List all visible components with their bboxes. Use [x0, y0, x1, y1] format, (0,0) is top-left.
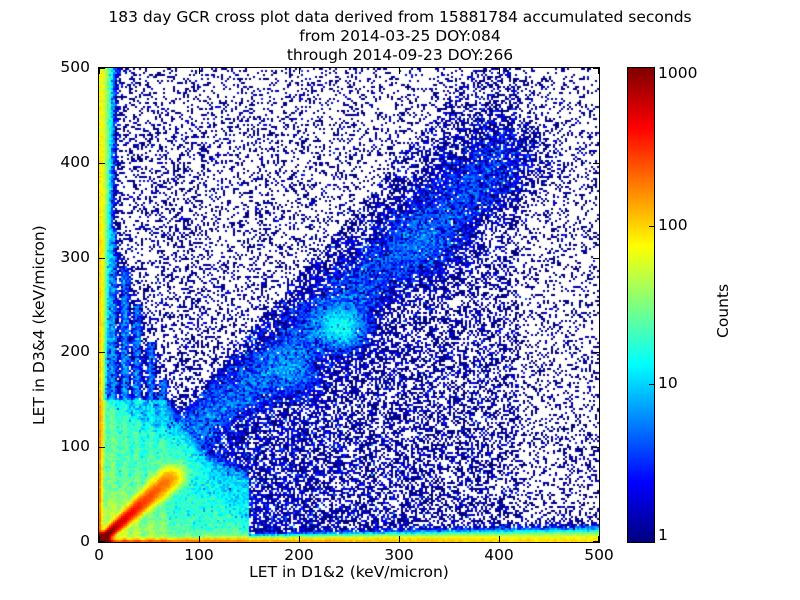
colorbar-tick-label-1000: 1000	[658, 64, 697, 82]
y-tick-right-200	[593, 352, 599, 353]
y-tick-label-0: 0	[20, 532, 90, 550]
x-tick-label-100: 100	[169, 546, 229, 564]
y-tick-left-300	[99, 258, 105, 259]
colorbar-tick-label-1: 1	[658, 526, 668, 544]
x-tick-bottom-300	[399, 536, 400, 542]
y-axis-label: LET in D3&4 (keV/micron)	[30, 225, 48, 425]
x-tick-label-500: 500	[569, 546, 629, 564]
chart-title-line-1: 183 day GCR cross plot data derived from…	[0, 8, 800, 27]
y-tick-right-100	[593, 447, 599, 448]
x-tick-top-400	[499, 68, 500, 74]
chart-title-line-2: from 2014-03-25 DOY:084	[0, 27, 800, 46]
x-tick-top-200	[299, 68, 300, 74]
y-tick-right-400	[593, 163, 599, 164]
y-tick-right-500	[593, 68, 599, 69]
x-tick-top-300	[399, 68, 400, 74]
y-tick-left-100	[99, 447, 105, 448]
colorbar-tick-label-100: 100	[658, 216, 688, 234]
x-tick-bottom-400	[499, 536, 500, 542]
plot-area[interactable]	[98, 67, 600, 543]
colorbar-label: Counts	[714, 284, 732, 338]
chart-title-line-3: through 2014-09-23 DOY:266	[0, 46, 800, 65]
y-tick-left-500	[99, 68, 105, 69]
x-tick-bottom-100	[199, 536, 200, 542]
y-tick-left-200	[99, 352, 105, 353]
x-tick-label-400: 400	[469, 546, 529, 564]
x-axis-label: LET in D1&2 (keV/micron)	[98, 563, 600, 581]
colorbar-tick-label-10: 10	[658, 374, 678, 392]
y-tick-right-0	[593, 541, 599, 542]
x-tick-label-200: 200	[269, 546, 329, 564]
y-tick-label-500: 500	[20, 58, 90, 76]
x-tick-label-300: 300	[369, 546, 429, 564]
y-tick-left-0	[99, 541, 105, 542]
colorbar-tick-100	[649, 226, 654, 227]
colorbar-gradient	[628, 68, 654, 542]
y-tick-label-100: 100	[20, 437, 90, 455]
y-tick-left-400	[99, 163, 105, 164]
y-tick-right-300	[593, 258, 599, 259]
x-tick-bottom-200	[299, 536, 300, 542]
chart-title: 183 day GCR cross plot data derived from…	[0, 8, 800, 65]
y-tick-label-400: 400	[20, 153, 90, 171]
x-tick-top-100	[199, 68, 200, 74]
colorbar[interactable]	[627, 67, 655, 543]
colorbar-tick-10	[649, 384, 654, 385]
density-scatter-canvas[interactable]	[99, 68, 599, 542]
